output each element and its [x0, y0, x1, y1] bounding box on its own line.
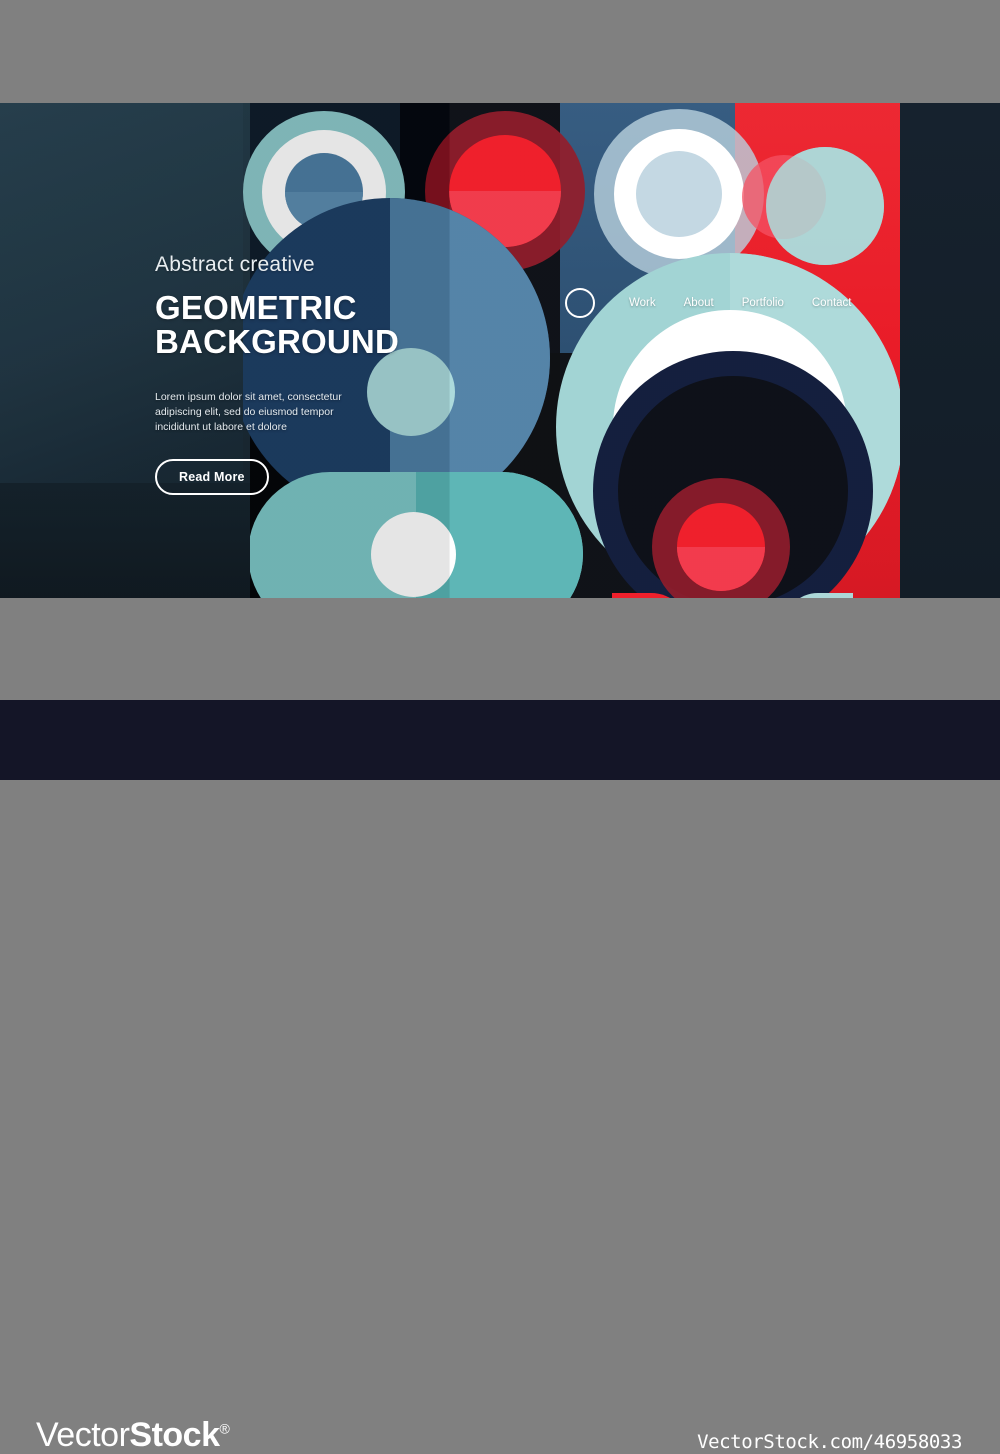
decorative-circle-paleblue-core-topright	[636, 151, 722, 237]
nav-item-contact[interactable]: Contact	[812, 297, 852, 309]
hero-headline: GEOMETRIC BACKGROUND	[155, 291, 455, 360]
vectorstock-logo: VectorStock®	[36, 1418, 230, 1452]
artwork-canvas	[0, 103, 1000, 598]
hero-paragraph: Lorem ipsum dolor sit amet, consectetur …	[155, 390, 355, 436]
mask-topmid-black	[400, 103, 422, 143]
footer-bar: VectorStock® VectorStock.com/46958033	[0, 700, 1000, 780]
nav-item-portfolio[interactable]: Portfolio	[742, 297, 784, 309]
site-navigation[interactable]: Work About Portfolio Contact	[565, 288, 852, 318]
registered-trademark-icon: ®	[219, 1421, 229, 1437]
read-more-button[interactable]: Read More	[155, 459, 269, 495]
decorative-bar-tail-mask	[288, 553, 408, 598]
vectorstock-url: VectorStock.com/46958033	[697, 1431, 962, 1453]
nav-item-work[interactable]: Work	[629, 297, 656, 309]
mask-left-bottom	[0, 483, 250, 598]
decorative-circle-teal-topright-overlay	[766, 147, 884, 265]
vectorstock-logo-thin: Vector	[36, 1416, 129, 1454]
hero-headline-line-1: GEOMETRIC	[155, 291, 455, 325]
vectorstock-logo-bold: Stock	[129, 1416, 219, 1454]
right-navy-filler	[900, 103, 1000, 598]
circle-outline-logo-icon[interactable]	[565, 288, 595, 318]
hero-eyebrow: Abstract creative	[155, 253, 455, 277]
screenshot-stage: Work About Portfolio Contact Abstract cr…	[0, 0, 1000, 780]
hero-copy-block: Abstract creative GEOMETRIC BACKGROUND L…	[155, 253, 455, 495]
hero-artwork: Work About Portfolio Contact Abstract cr…	[0, 103, 1000, 598]
hero-headline-line-2: BACKGROUND	[155, 325, 455, 359]
nav-item-about[interactable]: About	[684, 297, 714, 309]
